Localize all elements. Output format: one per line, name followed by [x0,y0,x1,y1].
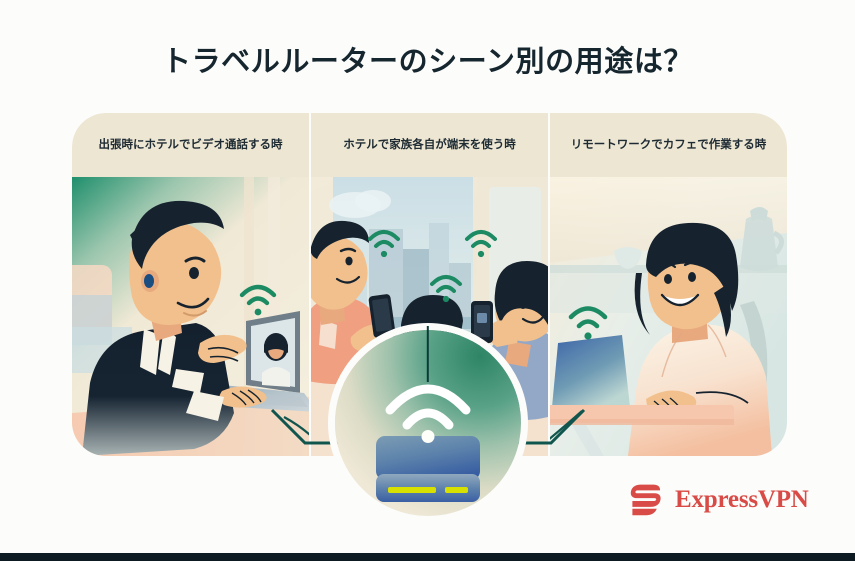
router-indicator-dot [422,430,435,443]
expressvpn-wordmark: ExpressVPN [675,486,809,514]
panel-business-video-call: 出張時にホテルでビデオ通話する時 [72,113,309,456]
panel-remote-work-cafe: リモートワークでカフェで作業する時 [550,113,787,456]
panel-illustration-3 [550,177,787,456]
router-icon [376,436,480,502]
router-base [376,474,480,502]
page-title: トラベルルーターのシーン別の用途は？ [0,38,855,80]
travel-router-hub [335,330,521,516]
router-led-left [388,487,436,493]
antenna-line [427,326,429,382]
router-led-right [445,487,468,493]
expressvpn-logo: ExpressVPN [630,484,809,516]
expressvpn-e-mark [630,484,664,516]
infographic-canvas: トラベルルーターのシーン別の用途は？ 出張時にホテルでビデオ通話する時 [0,0,855,561]
panel-caption-2: ホテルで家族各自が端末を使う時 [311,113,548,177]
panel-illustration-1 [72,177,309,456]
panel-caption-3: リモートワークでカフェで作業する時 [550,113,787,177]
wifi-broadcast-icon [382,378,474,432]
bottom-bar [0,553,855,561]
panel-caption-1: 出張時にホテルでビデオ通話する時 [72,113,309,177]
